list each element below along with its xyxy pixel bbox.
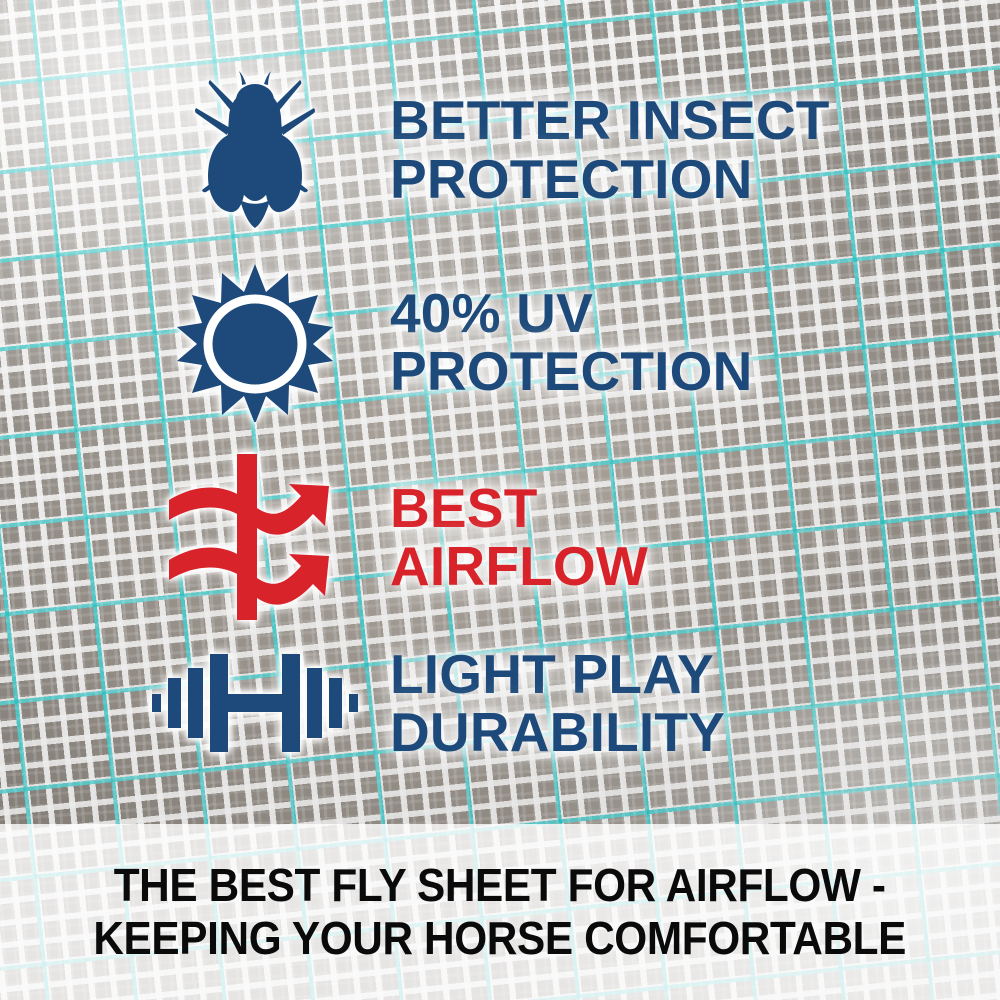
feature-list: BETTER INSECT PROTECTION 40% UV PROTECTI <box>0 0 1000 824</box>
banner-headline: THE BEST FLY SHEET FOR AIRFLOW - KEEPING… <box>94 859 907 966</box>
sun-icon <box>130 262 380 422</box>
feature-label-cell: BEST AIRFLOW <box>380 479 970 596</box>
feature-label-cell: LIGHT PLAY DURABILITY <box>380 645 970 762</box>
feature-label-airflow: BEST AIRFLOW <box>390 479 970 596</box>
dumbbell-icon <box>130 648 380 758</box>
bottom-banner: THE BEST FLY SHEET FOR AIRFLOW - KEEPING… <box>0 824 1000 1000</box>
fly-sheet-benefits-poster: BETTER INSECT PROTECTION 40% UV PROTECTI <box>0 0 1000 1000</box>
fly-icon <box>130 62 380 237</box>
airflow-icon <box>130 452 380 622</box>
feature-label-cell: 40% UV PROTECTION <box>380 284 970 401</box>
feature-label-insect: BETTER INSECT PROTECTION <box>390 91 970 208</box>
feature-row-durability: LIGHT PLAY DURABILITY <box>130 645 970 762</box>
feature-row-airflow: BEST AIRFLOW <box>130 452 970 622</box>
feature-label-uv: 40% UV PROTECTION <box>390 284 970 401</box>
feature-label-durability: LIGHT PLAY DURABILITY <box>390 645 970 762</box>
feature-row-uv: 40% UV PROTECTION <box>130 262 970 422</box>
feature-row-insect: BETTER INSECT PROTECTION <box>130 62 970 237</box>
feature-label-cell: BETTER INSECT PROTECTION <box>380 91 970 208</box>
